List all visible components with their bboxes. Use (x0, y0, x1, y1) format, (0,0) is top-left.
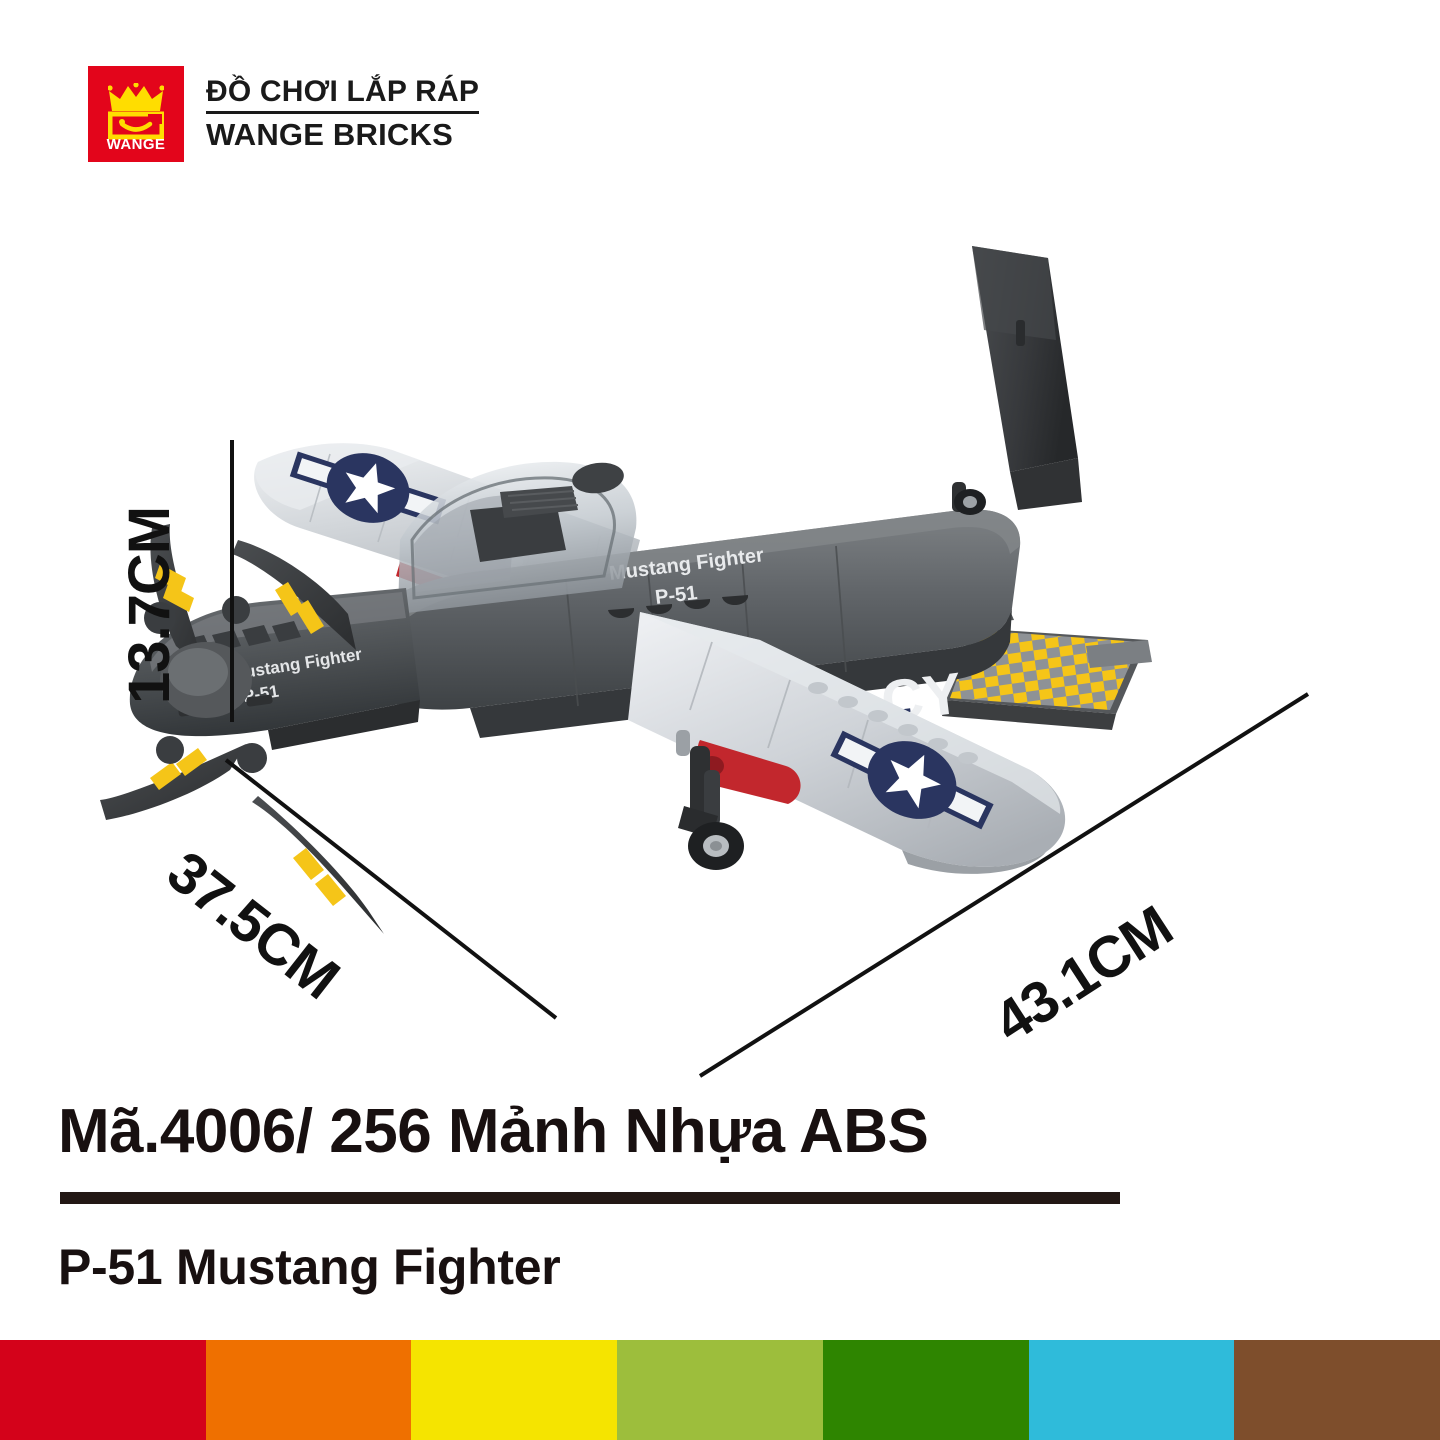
product-sku-line: Mã.4006/ 256 Mảnh Nhựa ABS (58, 1096, 928, 1167)
color-swatch-strip (0, 1340, 1440, 1440)
brand-tagline: ĐỒ CHƠI LẮP RÁP (206, 75, 479, 109)
brand-name: WANGE BRICKS (206, 118, 479, 153)
product-card: WANGE ĐỒ CHƠI LẮP RÁP WANGE BRICKS (0, 0, 1440, 1440)
brand-divider (206, 111, 479, 114)
mustang-model-illustration: U CY Mustang Fighter P-51 (0, 210, 1440, 1090)
wange-logo: WANGE (88, 66, 184, 162)
product-image: U CY Mustang Fighter P-51 (0, 210, 1440, 1090)
color-swatch-light-green (617, 1340, 823, 1440)
brand-text-block: ĐỒ CHƠI LẮP RÁP WANGE BRICKS (206, 75, 479, 153)
crown-icon (108, 83, 164, 113)
color-swatch-cyan (1029, 1340, 1235, 1440)
color-swatch-red (0, 1340, 206, 1440)
brand-header: WANGE ĐỒ CHƠI LẮP RÁP WANGE BRICKS (88, 66, 479, 162)
color-swatch-dark-green (823, 1340, 1029, 1440)
height-dimension-label: 13.7CM (116, 507, 183, 704)
footer-divider (60, 1192, 1120, 1204)
color-swatch-yellow (411, 1340, 617, 1440)
color-swatch-brown (1234, 1340, 1440, 1440)
color-swatch-orange (206, 1340, 412, 1440)
product-model-name: P-51 Mustang Fighter (58, 1238, 560, 1296)
tail-wheel (952, 482, 986, 515)
logo-wordmark: WANGE (88, 136, 184, 153)
